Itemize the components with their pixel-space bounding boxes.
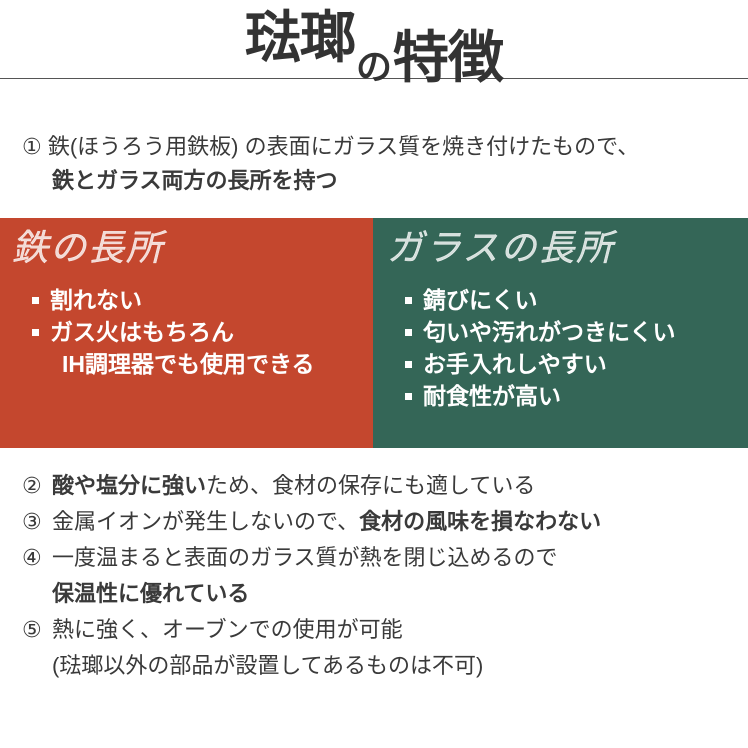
note-continuation: 保温性に優れている bbox=[22, 576, 734, 612]
note-text: 金属イオンが発生しないので、 bbox=[52, 509, 359, 534]
list-item: 錆びにくい bbox=[403, 284, 676, 316]
list-item: 割れない bbox=[30, 284, 315, 316]
note-text: ため、食材の保存にも適している bbox=[206, 473, 535, 498]
panel-glass-bullet-list: 錆びにくい 匂いや汚れがつきにくい お手入れしやすい 耐食性が高い bbox=[403, 284, 676, 412]
bullet-square-icon bbox=[405, 297, 412, 304]
bullet-text-continuation: IH調理器でも使用できる bbox=[50, 348, 315, 380]
advantage-panels: 鉄の長所 割れない ガス火はもちろん IH調理器でも使用できる ガラスの長所 錆… bbox=[0, 218, 748, 448]
note-number: ③ bbox=[22, 504, 52, 540]
feature-notes-list: ②酸や塩分に強いため、食材の保存にも適している ③金属イオンが発生しないので、食… bbox=[22, 468, 734, 684]
note-number: ② bbox=[22, 468, 52, 504]
title-main-text: 琺瑯 bbox=[245, 6, 355, 69]
panel-iron-bullet-list: 割れない ガス火はもちろん IH調理器でも使用できる bbox=[30, 284, 315, 380]
bullet-text: お手入れしやすい bbox=[423, 351, 607, 377]
page-title: 琺瑯の特徴 bbox=[0, 0, 748, 110]
title-particle-text: の bbox=[356, 46, 392, 87]
bullet-text: 錆びにくい bbox=[423, 287, 538, 313]
note-row: ⑤熱に強く、オーブンでの使用が可能 bbox=[22, 612, 734, 648]
bullet-square-icon bbox=[405, 393, 412, 400]
note-continuation: (琺瑯以外の部品が設置してあるものは不可) bbox=[22, 648, 734, 684]
bullet-text: 割れない bbox=[50, 287, 142, 313]
panel-iron-advantages: 鉄の長所 割れない ガス火はもちろん IH調理器でも使用できる bbox=[0, 218, 373, 448]
panel-iron-heading: 鉄の長所 bbox=[12, 224, 164, 273]
bullet-text: 匂いや汚れがつきにくい bbox=[423, 319, 676, 345]
list-item: 耐食性が高い bbox=[403, 380, 676, 412]
note-text: 一度温まると表面のガラス質が熱を閉じ込めるので bbox=[52, 545, 558, 570]
bullet-square-icon bbox=[405, 329, 412, 336]
bullet-text: ガス火はもちろん bbox=[50, 319, 234, 345]
bullet-square-icon bbox=[32, 329, 39, 336]
note-text: 熱に強く、オーブンでの使用が可能 bbox=[52, 617, 403, 642]
panel-glass-heading: ガラスの長所 bbox=[387, 224, 614, 273]
panel-glass-advantages: ガラスの長所 錆びにくい 匂いや汚れがつきにくい お手入れしやすい 耐食性が高い bbox=[373, 218, 748, 448]
title-block: 琺瑯の特徴 bbox=[0, 0, 748, 110]
note-row: ②酸や塩分に強いため、食材の保存にも適している bbox=[22, 468, 734, 504]
intro-text-1: 鉄(ほうろう用鉄板) の表面にガラス質を焼き付けたもので、 bbox=[48, 134, 639, 159]
title-suffix-text: 特徴 bbox=[393, 26, 503, 89]
intro-number: ① bbox=[22, 134, 42, 159]
note-bold-text: 食材の風味を損なわない bbox=[359, 509, 601, 534]
intro-line-1: ① 鉄(ほうろう用鉄板) の表面にガラス質を焼き付けたもので、 bbox=[22, 130, 732, 164]
note-number: ⑤ bbox=[22, 612, 52, 648]
intro-line-2: 鉄とガラス両方の長所を持つ bbox=[22, 164, 732, 198]
list-item: ガス火はもちろん IH調理器でも使用できる bbox=[30, 316, 315, 380]
list-item: お手入れしやすい bbox=[403, 348, 676, 380]
intro-item: ① 鉄(ほうろう用鉄板) の表面にガラス質を焼き付けたもので、 鉄とガラス両方の… bbox=[22, 130, 732, 198]
bullet-text: 耐食性が高い bbox=[423, 383, 561, 409]
note-number: ④ bbox=[22, 540, 52, 576]
note-row: ④一度温まると表面のガラス質が熱を閉じ込めるので bbox=[22, 540, 734, 576]
note-row: ③金属イオンが発生しないので、食材の風味を損なわない bbox=[22, 504, 734, 540]
note-bold-text: 酸や塩分に強い bbox=[52, 473, 206, 498]
bullet-square-icon bbox=[405, 361, 412, 368]
bullet-square-icon bbox=[32, 297, 39, 304]
list-item: 匂いや汚れがつきにくい bbox=[403, 316, 676, 348]
